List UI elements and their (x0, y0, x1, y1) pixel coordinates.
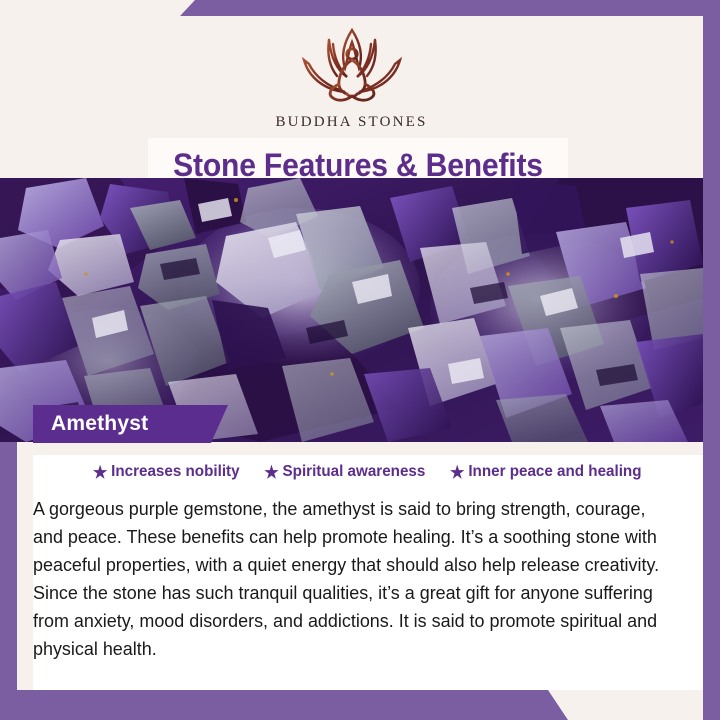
star-icon: ★ (450, 464, 464, 481)
star-icon: ★ (264, 464, 278, 481)
benefit-label-2: Spiritual awareness (282, 463, 425, 481)
benefits-list: ★ Increases nobility ★ Spiritual awarene… (33, 463, 703, 481)
star-icon: ★ (93, 464, 107, 481)
hero-image (0, 178, 703, 442)
benefit-item-2: ★ Spiritual awareness (264, 463, 425, 481)
content-card: ★ Increases nobility ★ Spiritual awarene… (33, 443, 703, 690)
right-accent-bar (703, 0, 720, 720)
content-top-strip (33, 443, 703, 455)
amethyst-crystal-cluster-icon (0, 178, 703, 442)
stone-info-card: BUDDHA STONES Stone Features & Benefits (0, 0, 720, 720)
top-accent-bar (0, 0, 720, 16)
bottom-accent-bar (0, 690, 720, 720)
benefit-item-1: ★ Increases nobility (93, 463, 240, 481)
stone-description: A gorgeous purple gemstone, the amethyst… (33, 495, 678, 663)
header: BUDDHA STONES Stone Features & Benefits (0, 16, 703, 178)
lotus-meditation-icon (277, 24, 427, 112)
benefit-label-3: Inner peace and healing (469, 463, 642, 481)
brand-name: BUDDHA STONES (0, 114, 703, 131)
benefit-item-3: ★ Inner peace and healing (450, 463, 641, 481)
brand-logo: BUDDHA STONES (0, 24, 703, 131)
stone-name-label: Amethyst (51, 412, 148, 436)
left-accent-bar (0, 442, 17, 720)
stone-name-banner: Amethyst (33, 405, 228, 443)
benefit-label-1: Increases nobility (111, 463, 239, 481)
